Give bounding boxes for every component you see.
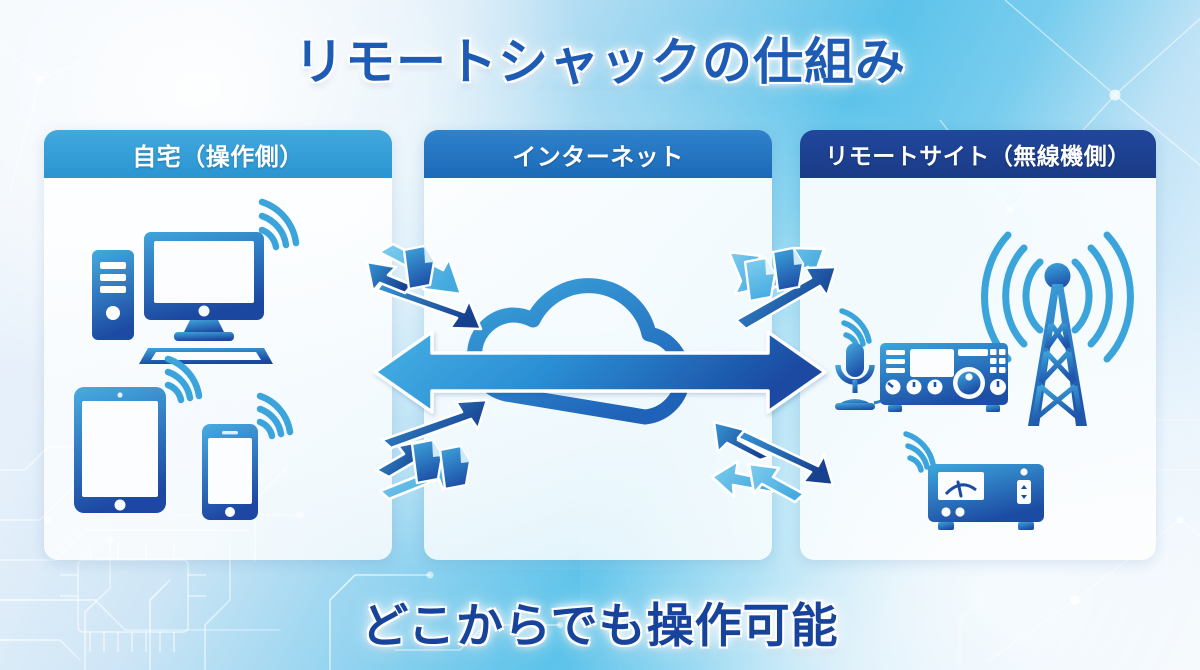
panel-internet-header: インターネット: [424, 130, 772, 178]
smartphone-icon: [192, 408, 322, 528]
desktop-computer-icon: [86, 208, 316, 368]
panel-remote-site-header: リモートサイト（無線機側）: [800, 130, 1156, 178]
footer-caption: どこからでも操作可能: [0, 587, 1200, 656]
page-title: リモートシャックの仕組み: [0, 22, 1200, 94]
panel-home-body: [44, 178, 392, 560]
panel-remote-site-body: [800, 178, 1156, 560]
power-supply-meter-icon: [900, 428, 1060, 548]
tablet-icon: [68, 373, 208, 523]
infographic-canvas: リモートシャックの仕組み 自宅（操作側）: [0, 0, 1200, 670]
cloud-icon: [458, 242, 740, 432]
panel-home: 自宅（操作側）: [44, 130, 392, 560]
panel-internet: インターネット: [424, 130, 772, 560]
panel-remote-site: リモートサイト（無線機側）: [800, 130, 1156, 560]
panel-internet-body: [424, 178, 772, 560]
hf-transceiver-icon: [822, 303, 1012, 423]
panel-home-header: 自宅（操作側）: [44, 130, 392, 178]
